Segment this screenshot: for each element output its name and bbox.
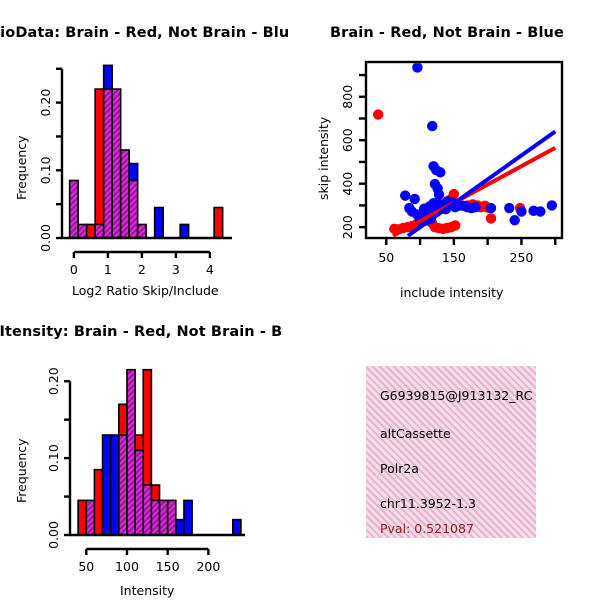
histogram-bar-overlap	[168, 500, 176, 535]
histogram-bar-solid	[129, 164, 138, 181]
histogram-bar-overlap	[95, 224, 104, 238]
annotation-line-pvalue: Pval: 0.521087	[380, 521, 474, 536]
y-tick-label: 0.20	[38, 89, 53, 117]
histogram-bar-solid	[143, 370, 151, 485]
histogram-bar-overlap	[151, 500, 159, 535]
histogram-bar-overlap	[160, 500, 168, 535]
scatter-point	[516, 206, 526, 216]
panel-ratio-histogram: RatioData: Brain - Red, Not Brain - Blu …	[0, 0, 300, 300]
scatter-title: Brain - Red, Not Brain - Blue	[330, 25, 564, 41]
scatter-points-group	[373, 62, 557, 236]
y-tick-label: 600	[340, 128, 355, 152]
x-tick-label: 0	[70, 262, 78, 277]
histogram-bar-overlap	[86, 500, 94, 535]
x-tick-label: 4	[206, 262, 214, 277]
histogram-bar-solid	[103, 435, 111, 535]
histogram-bar-solid	[135, 435, 143, 450]
y-tick-label: 0.20	[46, 367, 61, 395]
histogram-bar-solid	[180, 224, 189, 238]
ratio-histogram-ylabel: Frequency	[14, 135, 29, 200]
histogram-bar-overlap	[104, 89, 113, 238]
scatter-point	[486, 213, 496, 223]
x-tick-label: 150	[442, 250, 466, 265]
x-tick-label: 2	[138, 262, 146, 277]
scatter-point	[486, 203, 496, 213]
histogram-bar-overlap	[112, 89, 121, 238]
histogram-bars	[70, 65, 223, 238]
annotation-line-probe-id: G6939815@J913132_RC	[380, 388, 532, 403]
histogram-bar-solid	[111, 435, 119, 535]
histogram-bar-solid	[233, 520, 241, 535]
histogram-bar-overlap	[138, 224, 147, 238]
axes	[359, 75, 555, 245]
y-tick-label: 800	[340, 85, 355, 109]
histogram-bar-solid	[214, 208, 223, 238]
y-tick-label: 0.00	[38, 224, 53, 252]
panel-intensity-histogram: ne Itensity: Brain - Red, Not Brain - B …	[0, 300, 300, 600]
x-tick-label: 50	[378, 250, 394, 265]
histogram-bar-solid	[155, 208, 164, 238]
scatter-point	[373, 109, 383, 119]
intensity-histogram-ylabel: Frequency	[14, 438, 29, 503]
scatter-ylabel: skip intensity	[316, 117, 331, 200]
histogram-bar-overlap	[70, 180, 79, 238]
scatter-xlabel: include intensity	[400, 285, 503, 300]
scatter-point	[435, 167, 445, 177]
scatter-point	[547, 200, 557, 210]
y-tick-label: 200	[340, 215, 355, 239]
intensity-histogram-xlabel: Intensity	[120, 583, 174, 598]
trend-line	[393, 148, 555, 236]
histogram-bar-solid	[184, 500, 192, 535]
histogram-bar-solid	[94, 470, 102, 535]
x-tick-label: 150	[156, 559, 180, 574]
histogram-bar-solid	[119, 404, 127, 435]
y-tick-label: 400	[340, 172, 355, 196]
intensity-histogram-title: ne Itensity: Brain - Red, Not Brain - B	[0, 324, 282, 340]
scatter-point	[434, 189, 444, 199]
histogram-bar-solid	[95, 89, 104, 224]
scatter-point	[535, 206, 545, 216]
ratio-histogram-plot: 0.000.100.2001234	[0, 0, 300, 300]
annotation-box: G6939815@J913132_RCaltCassettePolr2achr1…	[366, 366, 536, 538]
x-tick-label: 3	[172, 262, 180, 277]
panel-intensity-scatter: Brain - Red, Not Brain - Blue skip inten…	[300, 0, 600, 300]
histogram-bar-overlap	[121, 150, 129, 238]
annotation-text-lines: G6939815@J913132_RCaltCassettePolr2achr1…	[366, 366, 536, 538]
scatter-point	[427, 121, 437, 131]
x-tick-label: 1	[104, 262, 112, 277]
histogram-bar-overlap	[143, 485, 151, 535]
figure-canvas: RatioData: Brain - Red, Not Brain - Blu …	[0, 0, 600, 600]
histogram-bar-solid	[151, 485, 159, 500]
scatter-point	[400, 190, 410, 200]
annotation-line-locus: chr11.3952-1.3	[380, 496, 476, 511]
annotation-line-gene-symbol: Polr2a	[380, 461, 419, 476]
annotation-line-event-type: altCassette	[380, 426, 451, 441]
histogram-bar-overlap	[135, 450, 143, 535]
intensity-histogram-plot: 0.000.100.2050100150200	[0, 300, 300, 600]
ratio-histogram-xlabel: Log2 Ratio Skip/Include	[72, 283, 219, 298]
ratio-histogram-title: RatioData: Brain - Red, Not Brain - Blu	[0, 25, 289, 41]
histogram-bar-overlap	[119, 435, 127, 535]
x-tick-label: 50	[78, 559, 94, 574]
histogram-bar-solid	[176, 520, 184, 535]
scatter-point	[470, 202, 480, 212]
histogram-bar-solid	[78, 500, 86, 535]
histogram-bar-overlap	[78, 224, 87, 238]
histogram-bar-overlap	[127, 370, 135, 535]
y-tick-label: 0.00	[46, 521, 61, 549]
scatter-point	[509, 215, 519, 225]
histogram-bars	[78, 370, 241, 535]
scatter-plot: 20040060080050150250	[300, 0, 600, 300]
scatter-point	[409, 194, 419, 204]
histogram-bar-solid	[87, 224, 96, 238]
scatter-point	[412, 62, 422, 72]
histogram-bar-solid	[104, 65, 113, 89]
histogram-bar-overlap	[129, 180, 138, 238]
x-tick-label: 200	[196, 559, 220, 574]
y-tick-label: 0.10	[38, 156, 53, 184]
x-tick-label: 250	[510, 250, 534, 265]
y-tick-label: 0.10	[46, 444, 61, 472]
scatter-point	[450, 220, 460, 230]
x-tick-label: 100	[115, 559, 139, 574]
scatter-point	[504, 203, 514, 213]
